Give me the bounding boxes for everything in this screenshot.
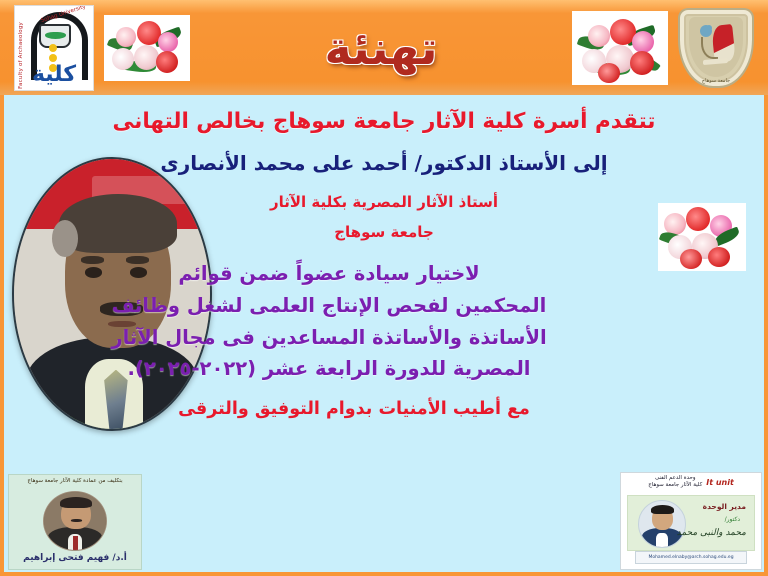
- paragraph-line-1: لاختيار سيادة عضواً ضمن قوائم: [22, 258, 636, 290]
- book-icon: [703, 58, 728, 66]
- poster-header: جامعة سوهاج تهنئة: [0, 0, 768, 95]
- it-manager-panel: مدير الوحدة دكتور/ محمد والنبى محمد: [627, 495, 755, 551]
- faculty-logo-word: كلية: [18, 64, 90, 86]
- paragraph-line-4: المصرية للدورة الرابعة عشر (٢٠٢٢-٢٠٢٥).: [22, 353, 636, 385]
- honoree-name-line: إلى الأستاذ الدكتور/ أحمد على محمد الأنص…: [22, 150, 746, 176]
- it-manager-role: مدير الوحدة: [703, 502, 746, 511]
- university-logo-caption: جامعة سوهاج: [678, 78, 754, 84]
- poster-body: تتقدم أسرة كلية الآثار جامعة سوهاج بخالص…: [4, 95, 764, 572]
- dean-name: أ.د/ فهيم فتحى إبراهيم: [9, 553, 141, 563]
- dean-signature-card: بتكليف من عمادة كلية الآثار جامعة سوهاج …: [8, 474, 142, 570]
- it-manager-name: محمد والنبى محمد: [677, 528, 746, 538]
- faculty-of-archaeology-logo: Faculty of Archaeology Sohag University …: [14, 5, 94, 91]
- honoree-title-line: أستاذ الآثار المصرية بكلية الآثار: [22, 192, 746, 212]
- star-icon: [700, 25, 712, 37]
- it-manager-email: Mohamed.elnaby@arch.sohag.edu.eg: [635, 551, 747, 564]
- closing-wishes-line: مع أطيب الأمنيات بدوام التوفيق والترقى: [22, 399, 746, 419]
- honoree-university-line: جامعة سوهاج: [22, 222, 746, 242]
- header-right-group: Faculty of Archaeology Sohag University …: [14, 5, 190, 91]
- paragraph-line-2: المحكمين لفحص الإنتاج العلمى لشغل وظائف: [22, 290, 636, 322]
- header-left-group: جامعة سوهاج: [572, 8, 754, 88]
- it-unit-title-line-1: وحدة الدعم الفنى: [655, 475, 696, 481]
- it-unit-title-line-2: كلية الآثار جامعة سوهاج: [648, 482, 702, 488]
- it-manager-avatar: [638, 500, 686, 548]
- it-unit-header: It unit وحدة الدعم الفنى كلية الآثار جام…: [621, 475, 761, 490]
- flower-bouquet-left-icon: [572, 11, 668, 85]
- sohag-university-logo: جامعة سوهاج: [678, 8, 754, 88]
- it-manager-doctor-prefix: دكتور/: [725, 516, 740, 523]
- congratulation-line-1: تتقدم أسرة كلية الآثار جامعة سوهاج بخالص…: [22, 109, 746, 136]
- it-unit-title: وحدة الدعم الفنى كلية الآثار جامعة سوهاج: [648, 475, 702, 490]
- page-title: تهنئة: [318, 25, 443, 71]
- dean-avatar: [43, 491, 107, 551]
- congratulation-poster: جامعة سوهاج تهنئة: [0, 0, 768, 576]
- flower-bouquet-right-icon: [104, 15, 190, 81]
- paragraph-line-3: الأساتذة والأساتذة المساعدين فى مجال الآ…: [22, 322, 636, 354]
- it-unit-card: It unit وحدة الدعم الفنى كلية الآثار جام…: [620, 472, 762, 570]
- dean-card-arc-text: بتكليف من عمادة كلية الآثار جامعة سوهاج: [9, 478, 141, 484]
- congratulation-paragraph: لاختيار سيادة عضواً ضمن قوائم المحكمين ل…: [22, 258, 746, 384]
- it-unit-label: It unit: [706, 478, 734, 487]
